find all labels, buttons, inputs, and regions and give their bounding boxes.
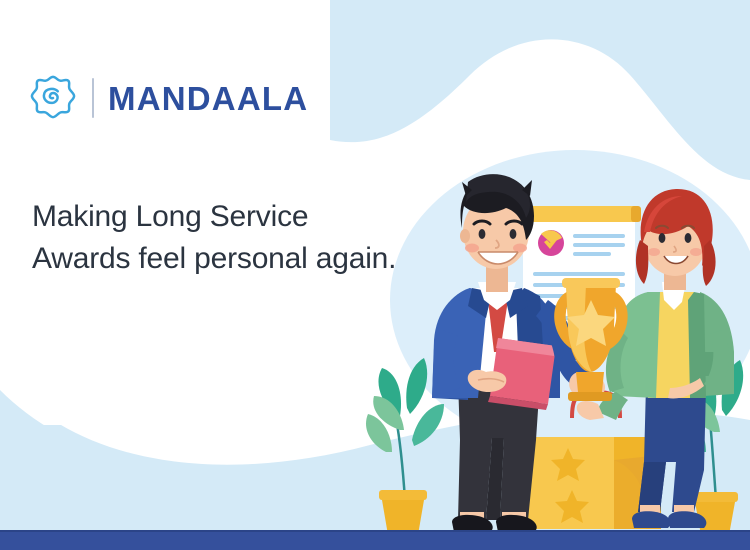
headline-text: Making Long Service Awards feel personal…: [32, 196, 412, 280]
mandala-spiral-icon: [30, 75, 76, 121]
brand-name: MANDAALA: [108, 82, 308, 115]
brand-lockup[interactable]: MANDAALA: [30, 72, 308, 124]
marketing-banner: MANDAALA Making Long Service Awards feel…: [0, 0, 750, 550]
brand-divider: [92, 78, 94, 118]
